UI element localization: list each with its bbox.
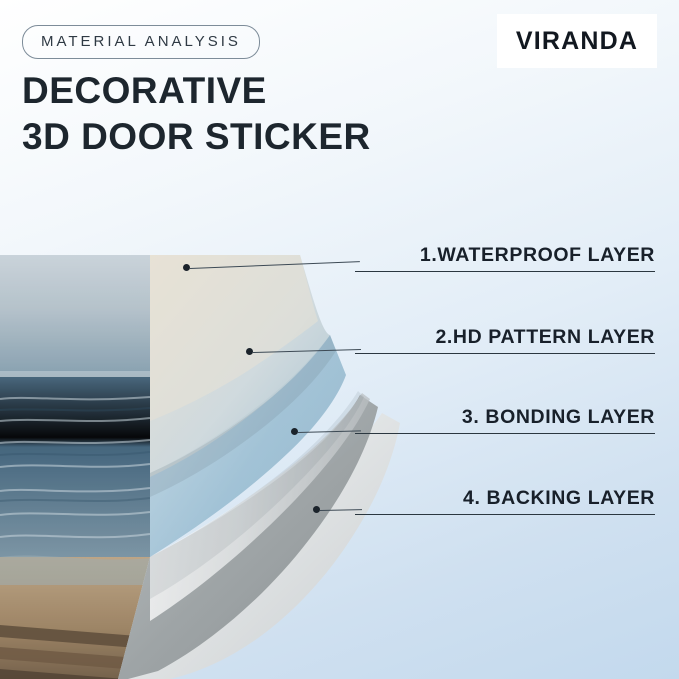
callout-2: 2.HD PATTERN LAYER <box>355 320 655 354</box>
callout-label-2: 2.HD PATTERN LAYER <box>435 326 655 349</box>
callout-dot-1 <box>183 264 190 271</box>
brand-logo-box: VIRANDA <box>497 14 657 68</box>
callout-label-1: 1.WATERPROOF LAYER <box>420 244 655 267</box>
page-title-line-1: DECORATIVE <box>22 68 371 114</box>
callout-label-4: 4. BACKING LAYER <box>463 487 655 510</box>
poster-canvas: MATERIAL ANALYSIS DECORATIVE 3D DOOR STI… <box>0 0 679 679</box>
eyebrow-badge: MATERIAL ANALYSIS <box>22 25 260 59</box>
callout-4: 4. BACKING LAYER <box>355 481 655 515</box>
page-title-line-2: 3D DOOR STICKER <box>22 114 371 160</box>
callout-1: 1.WATERPROOF LAYER <box>355 238 655 272</box>
callout-dot-2 <box>246 348 253 355</box>
page-title: DECORATIVE 3D DOOR STICKER <box>22 68 371 161</box>
callout-dot-4 <box>313 506 320 513</box>
callout-3: 3. BONDING LAYER <box>355 400 655 434</box>
callout-dot-3 <box>291 428 298 435</box>
callout-rule-3 <box>355 433 655 434</box>
callout-rule-2 <box>355 353 655 354</box>
callout-label-3: 3. BONDING LAYER <box>462 406 655 429</box>
brand-name: VIRANDA <box>516 27 638 56</box>
callout-rule-4 <box>355 514 655 515</box>
callout-rule-1 <box>355 271 655 272</box>
